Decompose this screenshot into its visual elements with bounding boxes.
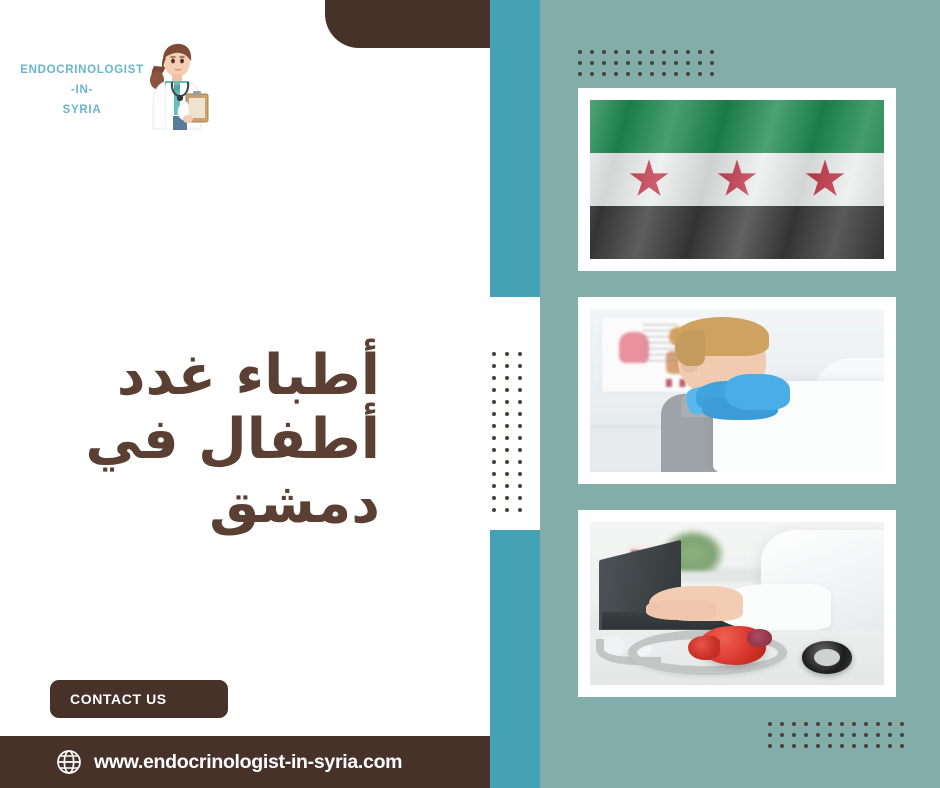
dot (864, 744, 868, 748)
dot (492, 448, 496, 452)
chart-text-lines (643, 324, 678, 366)
dot (505, 376, 509, 380)
dot (828, 722, 832, 726)
photo-inner (590, 522, 884, 685)
dot (888, 733, 892, 737)
dot (518, 436, 522, 440)
dot-grid-top (578, 50, 722, 83)
dot (804, 733, 808, 737)
dot (768, 722, 772, 726)
dot (876, 744, 880, 748)
dot (698, 50, 702, 54)
clinic-scene-graphic (590, 309, 884, 472)
dot (780, 722, 784, 726)
dot (662, 50, 666, 54)
dot (698, 72, 702, 76)
dot (900, 722, 904, 726)
dot (518, 448, 522, 452)
dot (602, 50, 606, 54)
dot (492, 424, 496, 428)
dot (876, 733, 880, 737)
teal-accent-bar-bottom (490, 530, 540, 788)
dot (518, 508, 522, 512)
website-url[interactable]: www.endocrinologist-in-syria.com (94, 751, 402, 774)
dot (650, 72, 654, 76)
dot (674, 50, 678, 54)
dot (505, 400, 509, 404)
dot (492, 388, 496, 392)
dot (626, 72, 630, 76)
dot (674, 72, 678, 76)
dot (686, 72, 690, 76)
dot (650, 61, 654, 65)
dot (505, 496, 509, 500)
brand-logo[interactable]: ENDOCRINOLOGIST -IN- SYRIA (12, 36, 212, 132)
syrian-independence-flag-photo (578, 88, 896, 271)
dot (828, 733, 832, 737)
dot (638, 61, 642, 65)
dot (518, 484, 522, 488)
dot (492, 376, 496, 380)
brand-logo-text: ENDOCRINOLOGIST -IN- SYRIA (12, 60, 152, 120)
dot (888, 744, 892, 748)
stethoscope-chestpiece (802, 641, 852, 674)
dot (505, 448, 509, 452)
dot (698, 61, 702, 65)
dot (505, 352, 509, 356)
doctor-fingers (646, 600, 717, 620)
dot (650, 50, 654, 54)
dot (710, 72, 714, 76)
brown-corner-block (325, 0, 490, 48)
dot (686, 61, 690, 65)
dot (492, 496, 496, 500)
dot (804, 744, 808, 748)
desk-scene-graphic (590, 522, 884, 685)
page-title: أطباء غدد أطفال في دمشق (60, 344, 380, 535)
dot-grid-left (492, 352, 531, 520)
dot (816, 722, 820, 726)
dot (492, 508, 496, 512)
dot (686, 50, 690, 54)
dot (626, 61, 630, 65)
globe-icon (56, 749, 82, 775)
gloved-hand-right (725, 374, 790, 410)
boy-hair-side (675, 330, 704, 366)
dot (505, 508, 509, 512)
poster-canvas: ENDOCRINOLOGIST -IN- SYRIA (0, 0, 940, 788)
dot (518, 376, 522, 380)
dot (602, 61, 606, 65)
dot (852, 722, 856, 726)
dot (518, 460, 522, 464)
dot (505, 364, 509, 368)
doctor-laptop-thyroid-model-photo (578, 510, 896, 697)
dot (492, 352, 496, 356)
dot (614, 50, 618, 54)
dot (518, 412, 522, 416)
dot (888, 722, 892, 726)
dot (492, 436, 496, 440)
photo-inner (590, 309, 884, 472)
dot (900, 744, 904, 748)
dot (505, 424, 509, 428)
dot (792, 733, 796, 737)
dot (900, 733, 904, 737)
dot (780, 744, 784, 748)
dot (864, 722, 868, 726)
dot (590, 61, 594, 65)
dot (780, 733, 784, 737)
dot (852, 733, 856, 737)
contact-us-button[interactable]: CONTACT US (50, 680, 228, 718)
dot (638, 50, 642, 54)
dot (492, 472, 496, 476)
brand-logo-line-1: ENDOCRINOLOGIST (12, 60, 152, 80)
dot (816, 744, 820, 748)
dot (492, 364, 496, 368)
dot (828, 744, 832, 748)
dot (876, 722, 880, 726)
dot (792, 744, 796, 748)
dot (590, 50, 594, 54)
dot (518, 352, 522, 356)
dot-grid-bottom (768, 722, 912, 755)
footer-bar: www.endocrinologist-in-syria.com (0, 736, 490, 788)
brand-logo-line-2: -IN- (12, 80, 152, 100)
dot (614, 72, 618, 76)
dot (505, 472, 509, 476)
pediatric-thyroid-exam-photo (578, 297, 896, 484)
dot (710, 61, 714, 65)
dot (518, 472, 522, 476)
fabric-ripple-overlay (590, 100, 884, 259)
dot (492, 400, 496, 404)
dot (768, 733, 772, 737)
dot (518, 388, 522, 392)
dot (852, 744, 856, 748)
dot (626, 50, 630, 54)
dot (840, 744, 844, 748)
dot (840, 733, 844, 737)
dot (505, 460, 509, 464)
dot (638, 72, 642, 76)
dot (768, 744, 772, 748)
dot (518, 496, 522, 500)
flag-graphic (590, 100, 884, 259)
dot (505, 388, 509, 392)
dot (710, 50, 714, 54)
dot (505, 484, 509, 488)
dot (662, 72, 666, 76)
dot (816, 733, 820, 737)
dot (864, 733, 868, 737)
dot (505, 412, 509, 416)
dot (662, 61, 666, 65)
dot (518, 364, 522, 368)
photo-inner (590, 100, 884, 259)
dot (614, 61, 618, 65)
dot (602, 72, 606, 76)
teal-accent-bar-top (490, 0, 540, 297)
dot (674, 61, 678, 65)
dot (578, 50, 582, 54)
dot (492, 484, 496, 488)
dot (840, 722, 844, 726)
dot (492, 412, 496, 416)
dot (792, 722, 796, 726)
dot (578, 61, 582, 65)
dot (578, 72, 582, 76)
dot (518, 424, 522, 428)
dot (505, 436, 509, 440)
brand-logo-line-3: SYRIA (12, 100, 152, 120)
female-doctor-illustration (140, 36, 214, 132)
thyroid-anatomical-model (699, 626, 767, 665)
dot (518, 400, 522, 404)
dot (804, 722, 808, 726)
dot (492, 460, 496, 464)
dot (590, 72, 594, 76)
